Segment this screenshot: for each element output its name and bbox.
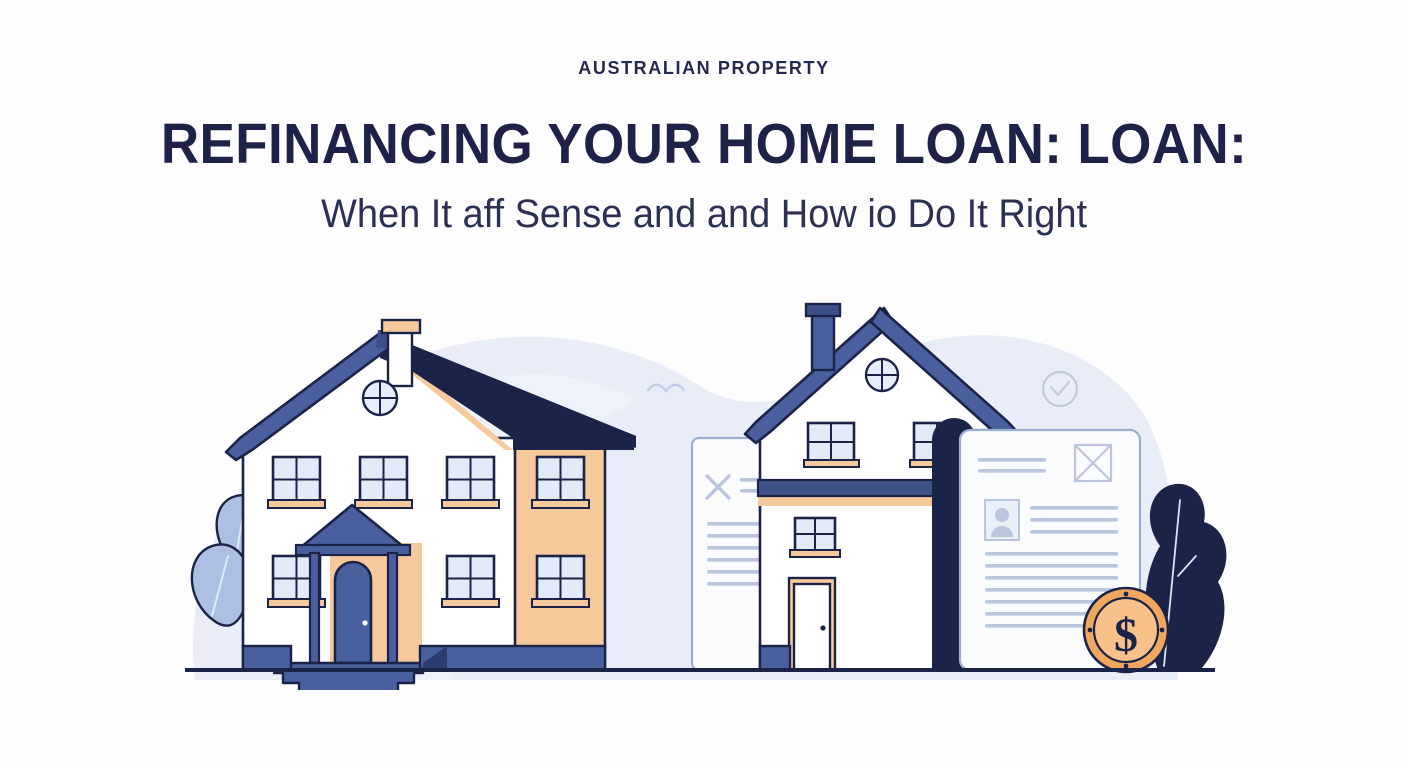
house-large-round-window xyxy=(363,381,397,415)
house-large-window-upper-3 xyxy=(442,457,499,508)
house-large-window-upper-1 xyxy=(268,457,325,508)
house-small-plinth xyxy=(760,646,790,670)
house-large-portico-post-left xyxy=(310,553,319,663)
house-large-plinth-left xyxy=(243,646,291,670)
house-small-window-upper-left xyxy=(804,423,859,467)
banner-subhead: When It aff Sense and and How io Do It R… xyxy=(35,189,1373,239)
house-small-door-knob xyxy=(820,625,825,630)
house-large-steps xyxy=(274,663,423,690)
house-large-window-upper-4 xyxy=(532,457,589,508)
banner-eyebrow: AUSTRALIAN PROPERTY xyxy=(0,55,1408,81)
banner-headline: REFINANCING YOUR HOME LOAN: LOAN: xyxy=(49,113,1358,175)
dollar-coin: $ xyxy=(1084,588,1168,672)
house-small-round-window xyxy=(866,359,898,391)
hero-illustration: $ xyxy=(0,290,1408,690)
house-large-window-lower-2 xyxy=(442,556,499,607)
ground-line xyxy=(185,668,1215,672)
house-small-window-lower xyxy=(790,518,840,557)
house-large-window-lower-3 xyxy=(532,556,589,607)
house-small-chimney xyxy=(806,304,840,370)
house-large-door xyxy=(335,562,371,663)
document-avatar-thumbnail xyxy=(985,500,1019,540)
banner-text-block: AUSTRALIAN PROPERTY REFINANCING YOUR HOM… xyxy=(0,0,1408,239)
house-large-plinth-right xyxy=(420,646,605,670)
hero-banner: AUSTRALIAN PROPERTY REFINANCING YOUR HOM… xyxy=(0,0,1408,768)
house-large-window-upper-2 xyxy=(355,457,412,508)
house-large-door-knob xyxy=(362,620,367,625)
coin-dollar-symbol: $ xyxy=(1114,609,1138,662)
house-large-portico-post-right xyxy=(388,553,397,663)
